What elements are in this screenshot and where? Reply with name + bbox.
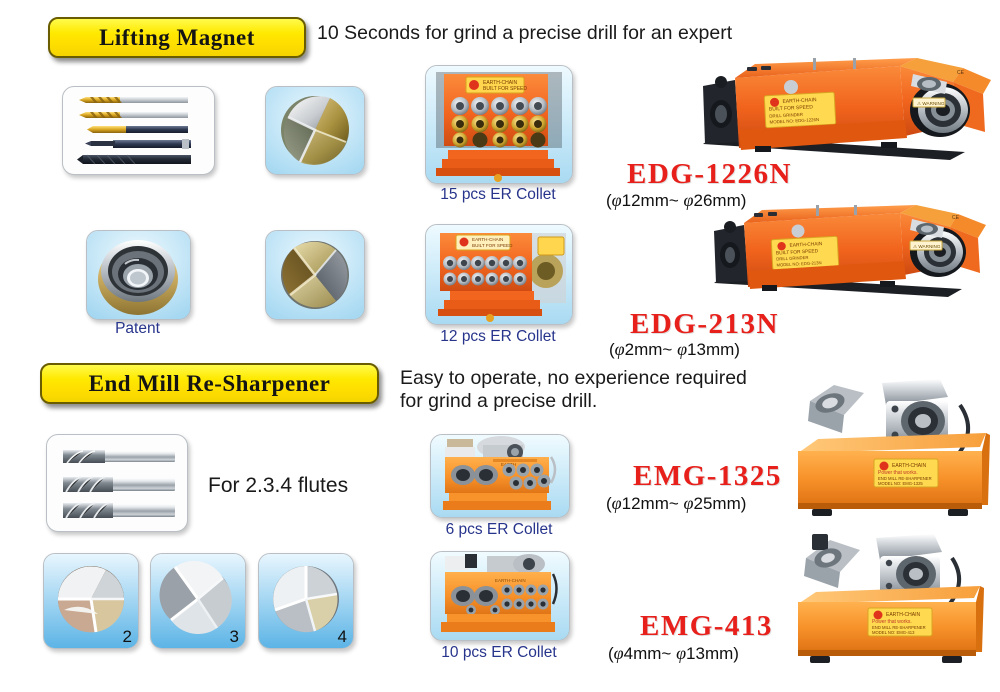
end-mill-grinder-small-artwork: EARTH-CHAIN Power that works. END MILL R…: [790, 528, 990, 668]
range-min: 12mm: [622, 494, 669, 513]
model-range-emg-413: (φ4mm~ φ13mm): [608, 643, 739, 664]
photo-drill-grinder-small: EARTH-CHAIN BUILT FOR SPEED DRILL GRINDE…: [700, 205, 990, 307]
thumb-flute-closeup-3: 3: [150, 553, 246, 649]
caption-collet-stand-15: 15 pcs ER Collet: [405, 186, 591, 204]
svg-text:BUILT FOR SPEED: BUILT FOR SPEED: [483, 86, 527, 92]
section-banner-lifting-magnet: Lifting Magnet: [48, 17, 306, 58]
drill-grinder-small-artwork: EARTH-CHAIN BUILT FOR SPEED DRILL GRINDE…: [700, 205, 990, 307]
drill-tip-artwork-2: [266, 231, 364, 319]
drill-bits-artwork: [63, 87, 214, 174]
svg-text:EARTH-CHAIN: EARTH-CHAIN: [892, 463, 926, 469]
end-mill-grinder-large-artwork: EARTH-CHAIN Power that works. END MILL R…: [790, 375, 995, 525]
collet-stand-10-artwork: EARTH-CHAIN: [431, 552, 569, 640]
section-banner-label: Lifting Magnet: [99, 25, 255, 51]
caption-patent: Patent: [86, 320, 189, 338]
endmill-flutes-note: For 2.3.4 flutes: [208, 474, 348, 497]
thumb-collet-stand-6: EARTH: [430, 434, 570, 518]
thumb-patent-magnet-chuck: [86, 230, 191, 320]
thumb-collet-stand-15: EARTH-CHAIN BUILT FOR SPEED: [425, 65, 573, 184]
end-mill-set-artwork: [47, 435, 187, 531]
model-name-emg-1325: EMG-1325: [633, 460, 782, 493]
range-max: 25mm: [694, 494, 741, 513]
headline-lifting-magnet: 10 Seconds for grind a precise drill for…: [317, 22, 837, 45]
section-banner-label: End Mill Re-Sharpener: [89, 371, 331, 397]
flute-number-label: 4: [338, 627, 347, 647]
svg-text:EARTH-CHAIN: EARTH-CHAIN: [886, 612, 920, 618]
svg-text:⚠ WARNING: ⚠ WARNING: [913, 244, 941, 249]
caption-collet-stand-10: 10 pcs ER Collet: [406, 644, 592, 662]
drill-tip-artwork-1: [266, 87, 364, 174]
range-max: 13mm: [687, 340, 734, 359]
collet-stand-6-artwork: EARTH: [431, 435, 569, 517]
thumb-end-mill-set: [46, 434, 188, 532]
photo-drill-grinder-large: EARTH-CHAIN BUILT FOR SPEED DRILL GRINDE…: [695, 58, 995, 168]
model-name-emg-413: EMG-413: [640, 610, 773, 643]
drill-grinder-large-artwork: EARTH-CHAIN BUILT FOR SPEED DRILL GRINDE…: [695, 58, 995, 168]
caption-collet-stand-12: 12 pcs ER Collet: [405, 328, 591, 346]
model-range-edg-213n: (φ2mm~ φ13mm): [609, 339, 740, 360]
thumb-collet-stand-10: EARTH-CHAIN: [430, 551, 570, 641]
thumb-flute-closeup-4: 4: [258, 553, 354, 649]
range-min: 4mm: [624, 644, 662, 663]
caption-collet-stand-6: 6 pcs ER Collet: [406, 521, 592, 539]
svg-text:EARTH-CHAIN: EARTH-CHAIN: [472, 237, 503, 242]
flute-number-label: 3: [230, 627, 239, 647]
collet-stand-15-artwork: EARTH-CHAIN BUILT FOR SPEED: [426, 66, 572, 183]
thumb-drill-bits-assortment: [62, 86, 215, 175]
headline-end-mill-resharpener: Easy to operate, no experience required …: [400, 367, 810, 413]
magnet-chuck-artwork: [87, 231, 190, 319]
svg-text:BUILT FOR SPEED: BUILT FOR SPEED: [472, 243, 513, 248]
collet-stand-12-artwork: EARTH-CHAIN BUILT FOR SPEED: [426, 225, 572, 324]
model-range-emg-1325: (φ12mm~ φ25mm): [606, 493, 746, 514]
svg-text:MODEL NO: EMG-413: MODEL NO: EMG-413: [872, 630, 915, 635]
range-min: 2mm: [625, 340, 663, 359]
svg-text:CE: CE: [952, 215, 960, 221]
model-name-edg-213n: EDG-213N: [630, 308, 779, 341]
range-min: 12mm: [622, 191, 669, 210]
photo-end-mill-grinder-small: EARTH-CHAIN Power that works. END MILL R…: [790, 528, 990, 668]
model-name-edg-1226n: EDG-1226N: [627, 158, 792, 191]
thumb-collet-stand-12: EARTH-CHAIN BUILT FOR SPEED: [425, 224, 573, 325]
thumb-drill-tip-closeup-1: [265, 86, 365, 175]
photo-end-mill-grinder-large: EARTH-CHAIN Power that works. END MILL R…: [790, 375, 995, 525]
flute-number-label: 2: [123, 627, 132, 647]
section-banner-end-mill-resharpener: End Mill Re-Sharpener: [40, 363, 379, 404]
svg-text:MODEL NO: EMG-1325: MODEL NO: EMG-1325: [878, 481, 923, 486]
svg-text:CE: CE: [957, 70, 965, 76]
svg-text:EARTH-CHAIN: EARTH-CHAIN: [495, 578, 526, 583]
range-max: 13mm: [686, 644, 733, 663]
svg-text:⚠ WARNING: ⚠ WARNING: [917, 101, 945, 106]
thumb-drill-tip-closeup-2: [265, 230, 365, 320]
thumb-flute-closeup-2: 2: [43, 553, 139, 649]
